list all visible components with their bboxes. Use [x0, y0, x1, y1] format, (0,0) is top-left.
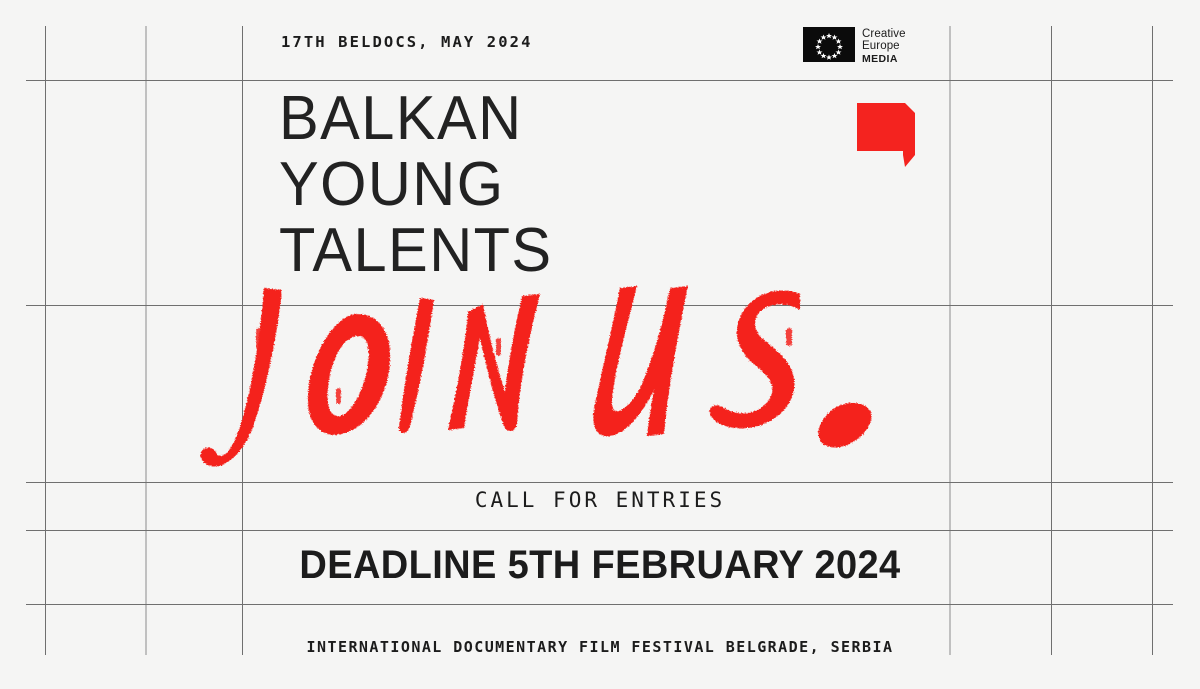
grid-hline-1 [26, 80, 1173, 81]
title-line-2: YOUNG [279, 152, 553, 218]
european-union-flag-icon [803, 27, 855, 62]
festival-edition-label: 17TH BELDOCS, MAY 2024 [281, 33, 533, 51]
page-title: BALKAN YOUNG TALENTS [279, 86, 564, 284]
creative-europe-wordmark: Creative Europe MEDIA [862, 27, 906, 65]
logo-line-media: MEDIA [862, 54, 906, 65]
title-line-1: BALKAN [279, 86, 553, 152]
join-us-brush-lettering [196, 268, 956, 508]
deadline-label: DEADLINE 5TH FEBRUARY 2024 [30, 543, 1170, 588]
logo-line-europe: Europe [862, 40, 906, 52]
creative-europe-media-logo: Creative Europe MEDIA [803, 27, 906, 65]
grid-hline-4 [26, 530, 1173, 531]
eu-stars-circle-icon [803, 27, 855, 62]
logo-line-creative: Creative [862, 28, 906, 40]
festival-subtitle: INTERNATIONAL DOCUMENTARY FILM FESTIVAL … [0, 638, 1200, 656]
grid-hline-5 [26, 604, 1173, 605]
speech-bubble-shape [857, 103, 915, 167]
poster-canvas: 17TH BELDOCS, MAY 2024 [0, 0, 1200, 689]
join-us-script-graphic [196, 268, 956, 508]
call-for-entries-label: CALL FOR ENTRIES [0, 488, 1200, 512]
red-speech-bubble-icon [857, 103, 915, 167]
